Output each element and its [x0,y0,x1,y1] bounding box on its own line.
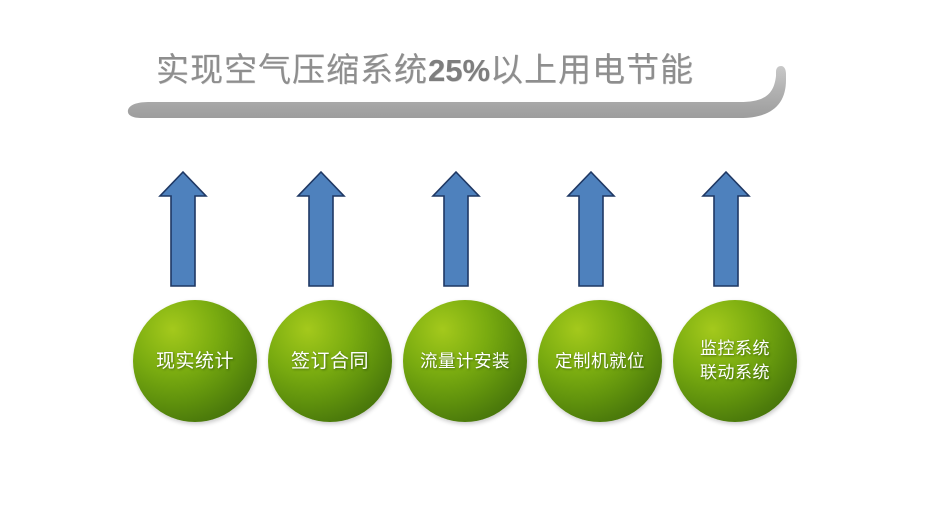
node-label: 流量计安装 [416,349,514,374]
node-jiankong-liandong[interactable]: 监控系统 联动系统 [673,300,797,422]
node-label: 定制机就位 [551,349,649,374]
title-percent: 25% [428,53,490,88]
up-arrow-icon-1 [158,170,208,288]
node-liuliangji-anzhuang[interactable]: 流量计安装 [403,300,527,422]
up-arrow-icon-3 [431,170,481,288]
node-label: 监控系统 联动系统 [696,337,774,385]
page-title: 实现空气压缩系统25%以上用电节能 [156,46,756,96]
node-label: 签订合同 [287,349,373,374]
node-qianding-hetong[interactable]: 签订合同 [268,300,392,422]
up-arrow-icon-2 [296,170,346,288]
node-label: 现实统计 [152,349,238,374]
title-prefix: 实现空气压缩系统 [156,53,428,89]
up-arrow-icon-4 [566,170,616,288]
slide-canvas: 实现空气压缩系统25%以上用电节能 现实统计 签订合同 流量计安装 定制机就位 … [0,0,945,529]
title-banner-group: 实现空气压缩系统25%以上用电节能 [120,36,800,136]
node-dingzhiji-jiuwei[interactable]: 定制机就位 [538,300,662,422]
title-suffix: 以上用电节能 [490,53,694,89]
up-arrow-icon-5 [701,170,751,288]
node-xianshi-tongji[interactable]: 现实统计 [133,300,257,422]
